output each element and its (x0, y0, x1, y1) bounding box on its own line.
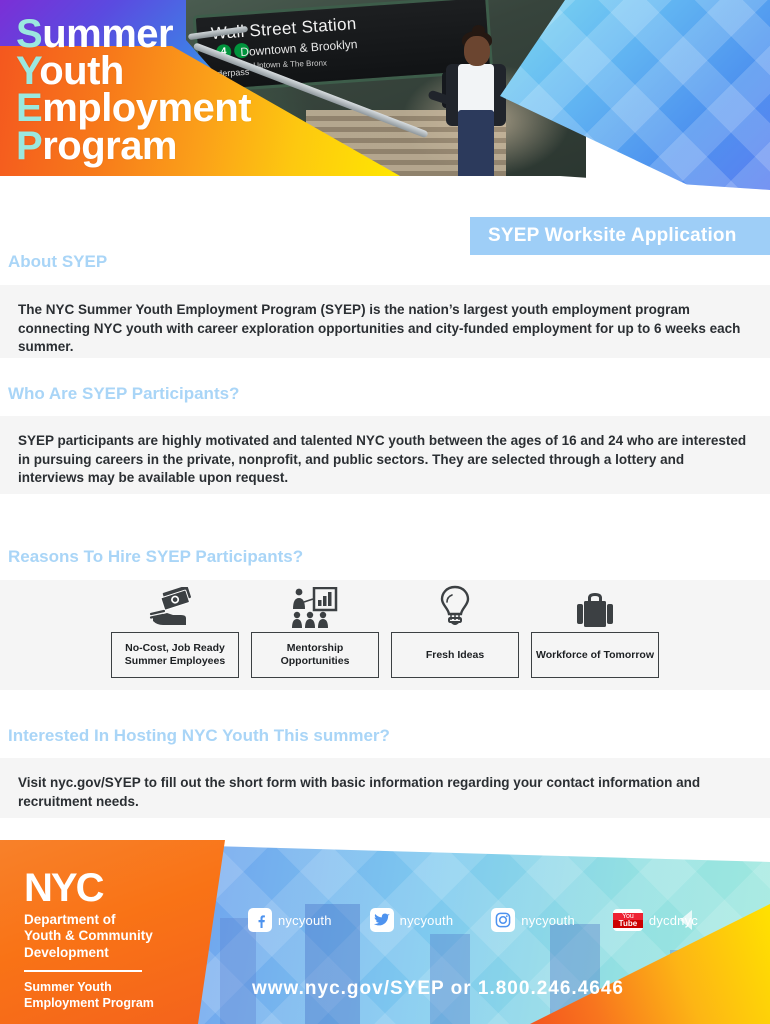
participants-body-text: SYEP participants are highly motivated a… (18, 432, 752, 488)
hosting-body-text: Visit nyc.gov/SYEP to fill out the short… (18, 774, 752, 811)
twitter-handle: nycyouth (400, 913, 454, 928)
footer-url-phone[interactable]: www.nyc.gov/SYEP or 1.800.246.4646 (252, 978, 624, 1000)
reason-label: No-Cost, Job Ready Summer Employees (111, 632, 239, 678)
program-title: Summer Youth Employment Program (16, 16, 251, 165)
youtube-handle: dycdnyc (649, 913, 698, 928)
briefcase-icon (574, 585, 616, 629)
social-link-twitter[interactable]: nycyouth (370, 908, 454, 932)
reason-label: Mentorship Opportunities (251, 632, 379, 678)
about-body-text: The NYC Summer Youth Employment Program … (18, 301, 752, 357)
lightbulb-icon (439, 585, 471, 629)
title-initial-p: P (16, 124, 42, 168)
department-line-1: Department of (24, 912, 154, 928)
facebook-icon (248, 908, 272, 932)
header-banner: Wall Street Station 4 Downtown & Brookly… (0, 0, 770, 192)
section-panel-about: The NYC Summer Youth Employment Program … (0, 285, 770, 358)
reason-item: No-Cost, Job Ready Summer Employees (111, 585, 239, 678)
section-heading-reasons: Reasons To Hire SYEP Participants? (0, 547, 303, 567)
program-line-2: Employment Program (24, 996, 154, 1011)
reason-item: Workforce of Tomorrow (531, 585, 659, 678)
section-panel-reasons: No-Cost, Job Ready Summer Employees (0, 580, 770, 690)
presentation-audience-icon (290, 585, 340, 629)
department-line-2: Youth & Community (24, 928, 154, 944)
social-links-row: nycyouth nycyouth nycyouth You Tube (248, 908, 718, 932)
program-line-1: Summer Youth (24, 980, 154, 995)
photo-person (436, 36, 516, 186)
instagram-handle: nycyouth (521, 913, 575, 928)
department-line-3: Development (24, 945, 154, 961)
reason-label: Workforce of Tomorrow (531, 632, 659, 678)
social-link-facebook[interactable]: nycyouth (248, 908, 332, 932)
reason-label: Fresh Ideas (391, 632, 519, 678)
nyc-logo-block: NYC Department of Youth & Community Deve… (24, 868, 154, 1011)
twitter-icon (370, 908, 394, 932)
facebook-handle: nycyouth (278, 913, 332, 928)
section-heading-about: About SYEP (0, 252, 107, 272)
youtube-icon: You Tube (613, 909, 643, 931)
title-rest-program: rogram (42, 124, 177, 168)
youtube-badge-line-2: Tube (613, 920, 643, 928)
department-name: Department of Youth & Community Developm… (24, 912, 154, 961)
reason-item: Mentorship Opportunities (251, 585, 379, 678)
section-heading-hosting: Interested In Hosting NYC Youth This sum… (0, 726, 390, 746)
reason-item: Fresh Ideas (391, 585, 519, 678)
worksite-application-titlebar: SYEP Worksite Application (470, 217, 770, 255)
program-name: Summer Youth Employment Program (24, 980, 154, 1011)
section-heading-participants: Who Are SYEP Participants? (0, 384, 239, 404)
social-link-youtube[interactable]: You Tube dycdnyc (613, 908, 698, 932)
section-panel-hosting: Visit nyc.gov/SYEP to fill out the short… (0, 758, 770, 818)
money-in-hand-icon (147, 585, 203, 629)
syep-flyer-page: Wall Street Station 4 Downtown & Brookly… (0, 0, 770, 1024)
logo-divider (24, 970, 142, 972)
instagram-icon (491, 908, 515, 932)
nyc-wordmark: NYC (24, 868, 154, 908)
reasons-row: No-Cost, Job Ready Summer Employees (0, 580, 770, 690)
social-link-instagram[interactable]: nycyouth (491, 908, 575, 932)
section-panel-participants: SYEP participants are highly motivated a… (0, 416, 770, 494)
